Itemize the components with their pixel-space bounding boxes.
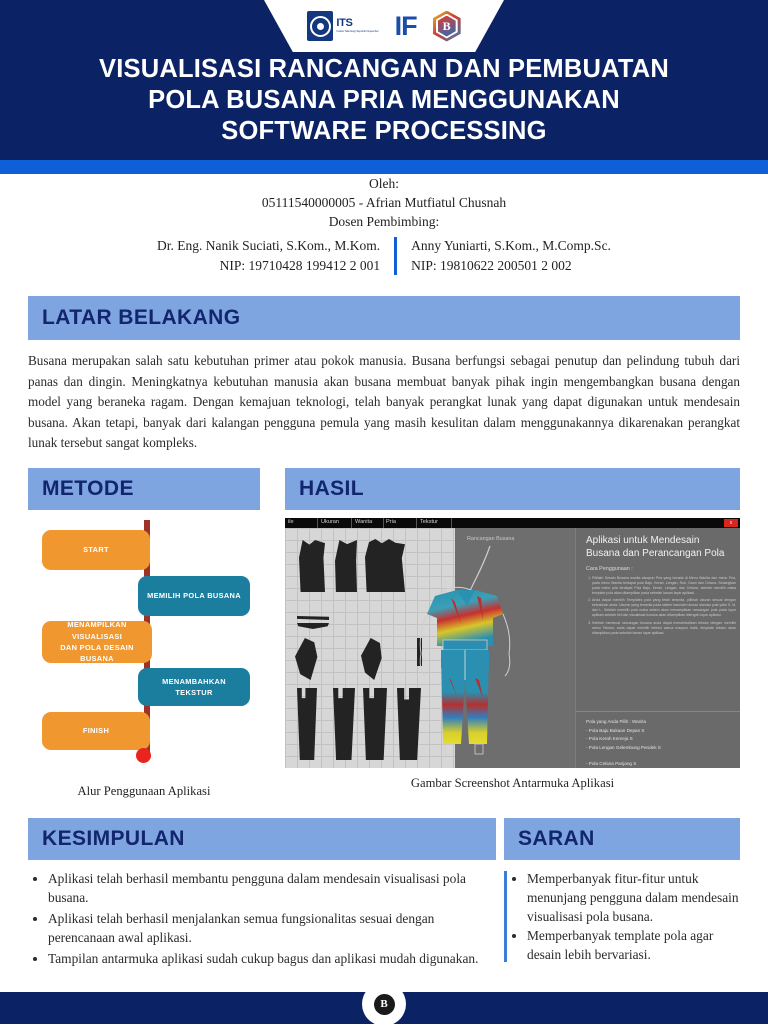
menu-item-file[interactable]: ile xyxy=(288,519,294,525)
app-menubar: ile Ukuran Wanita Pria Tekstur x xyxy=(285,518,740,528)
footer-badge-label: B xyxy=(374,994,395,1015)
saran-list: Memperbanyak fitur-fitur untuk menunjang… xyxy=(507,869,740,964)
panel-step: Pilihlah Desain Busana wanita ataupun Pr… xyxy=(592,576,736,596)
advisor-left-name: Dr. Eng. Nanik Suciati, S.Kom., M.Kom. xyxy=(157,236,380,256)
close-icon[interactable]: x xyxy=(724,519,738,527)
section-kesimpulan: KESIMPULAN Aplikasi telah berhasil memba… xyxy=(28,818,496,970)
selection-item: - Pola Celana Panjang S xyxy=(586,760,736,768)
poster-footer: B xyxy=(0,992,768,1024)
flow-node-start: START xyxy=(42,530,150,570)
section-saran: SARAN Memperbanyak fitur-fitur untuk men… xyxy=(504,818,740,964)
flowchart: START MEMILIH POLA BUSANA MENAMPILKAN VI… xyxy=(28,516,260,776)
kesimpulan-banner: KESIMPULAN xyxy=(28,818,496,860)
hasil-title: HASIL xyxy=(285,477,364,501)
advisor-right-nip: NIP: 19810622 200501 2 002 xyxy=(411,256,611,276)
flow-node-menampilkan-visualisasi: MENAMPILKAN VISUALISASI DAN POLA DESAIN … xyxy=(42,621,152,663)
its-seal-icon xyxy=(307,11,333,41)
flow-node-finish: FINISH xyxy=(42,712,150,750)
student-name: 05111540000005 - Afrian Mutfiatul Chusna… xyxy=(0,193,768,212)
selection-item: - Pola Baju Bukaan Depan S xyxy=(586,727,736,736)
its-logo-icon: ITS Institut Teknologi Sepuluh Nopember xyxy=(307,11,378,41)
kesimpulan-list: Aplikasi telah berhasil membantu penggun… xyxy=(28,869,496,968)
advisor-right: Anny Yuniarti, S.Kom., M.Comp.Sc. NIP: 1… xyxy=(397,236,625,275)
selection-item: - Pola Kerah Kemeja S xyxy=(586,735,736,744)
flow-end-dot xyxy=(136,748,151,763)
saran-title: SARAN xyxy=(504,827,595,851)
header-accent-stripe xyxy=(0,160,768,174)
panel-steps: Pilihlah Desain Busana wanita ataupun Pr… xyxy=(586,576,736,638)
panel-title: Aplikasi untuk Mendesain Busana dan Pera… xyxy=(586,534,734,560)
latar-body: Busana merupakan salah satu kebutuhan pr… xyxy=(28,351,740,454)
menu-item-tekstur[interactable]: Tekstur xyxy=(420,519,438,525)
flow-node-menambahkan-tekstur: MENAMBAHKAN TEKSTUR xyxy=(138,668,250,706)
hex-badge-icon: B xyxy=(433,11,461,42)
metode-banner: METODE xyxy=(28,468,260,510)
footer-badge: B xyxy=(362,982,406,1026)
menu-item-ukuran[interactable]: Ukuran xyxy=(321,519,339,525)
advisor-right-name: Anny Yuniarti, S.Kom., M.Comp.Sc. xyxy=(411,236,611,256)
mannequin-figure xyxy=(285,528,575,768)
poster-header: ITS Institut Teknologi Sepuluh Nopember … xyxy=(0,0,768,160)
advisors-row: Dr. Eng. Nanik Suciati, S.Kom., M.Kom. N… xyxy=(0,236,768,275)
hasil-caption: Gambar Screenshot Antarmuka Aplikasi xyxy=(285,776,740,791)
author-block: Oleh: 05111540000005 - Afrian Mutfiatul … xyxy=(0,174,768,276)
latar-banner: LATAR BELAKANG xyxy=(28,296,740,340)
its-abbr-label: ITS xyxy=(336,18,378,29)
metode-title: METODE xyxy=(28,477,134,501)
its-sub-label: Institut Teknologi Sepuluh Nopember xyxy=(336,30,378,34)
latar-title: LATAR BELAKANG xyxy=(28,306,240,330)
section-metode: METODE START MEMILIH POLA BUSANA MENAMPI… xyxy=(28,468,260,799)
app-info-panel: Aplikasi untuk Mendesain Busana dan Pera… xyxy=(575,528,740,768)
by-label: Oleh: xyxy=(0,174,768,193)
metode-caption: Alur Penggunaan Aplikasi xyxy=(28,784,260,799)
kesimpulan-title: KESIMPULAN xyxy=(28,827,185,851)
poster: ITS Institut Teknologi Sepuluh Nopember … xyxy=(0,0,768,1024)
panel-selection: Pola yang Anda Pilih : Wanita - Pola Baj… xyxy=(586,718,736,768)
title-line-3: SOFTWARE PROCESSING xyxy=(0,116,768,147)
menu-item-pria[interactable]: Pria xyxy=(386,519,396,525)
section-hasil: HASIL ile Ukuran Wanita Pria Tekstur x xyxy=(285,468,740,791)
advisor-label: Dosen Pembimbing: xyxy=(0,212,768,231)
logo-plate: ITS Institut Teknologi Sepuluh Nopember … xyxy=(264,0,504,52)
panel-step: Anda dapat memilih Templates pola yang t… xyxy=(592,598,736,618)
app-screenshot: ile Ukuran Wanita Pria Tekstur x xyxy=(285,518,740,768)
title-line-2: POLA BUSANA PRIA MENGGUNAKAN xyxy=(0,85,768,116)
hex-badge-label: B xyxy=(443,19,451,34)
if-logo-icon: IF xyxy=(395,11,417,42)
list-item: Aplikasi telah berhasil menjalankan semu… xyxy=(48,909,496,947)
list-item: Tampilan antarmuka aplikasi sudah cukup … xyxy=(48,949,496,968)
list-item: Memperbanyak fitur-fitur untuk menunjang… xyxy=(527,869,740,926)
page-title: VISUALISASI RANCANGAN DAN PEMBUATAN POLA… xyxy=(0,54,768,147)
panel-subtitle: Cara Penggunaan : xyxy=(586,566,633,572)
title-line-1: VISUALISASI RANCANGAN DAN PEMBUATAN xyxy=(0,54,768,85)
advisor-left: Dr. Eng. Nanik Suciati, S.Kom., M.Kom. N… xyxy=(143,236,394,275)
section-latar-belakang: LATAR BELAKANG Busana merupakan salah sa… xyxy=(28,296,740,454)
list-item: Memperbanyak template pola agar desain l… xyxy=(527,926,740,964)
panel-divider xyxy=(576,711,740,712)
selection-title: Pola yang Anda Pilih : Wanita xyxy=(586,718,736,727)
panel-step: Setelah membuat rancangan busana anda da… xyxy=(592,621,736,636)
menu-item-wanita[interactable]: Wanita xyxy=(355,519,372,525)
selection-item: - Pola Lengan Gelembung Pendek S xyxy=(586,744,736,753)
flow-node-memilih-pola: MEMILIH POLA BUSANA xyxy=(138,576,250,616)
list-item: Aplikasi telah berhasil membantu penggun… xyxy=(48,869,496,907)
advisor-left-nip: NIP: 19710428 199412 2 001 xyxy=(157,256,380,276)
hasil-banner: HASIL xyxy=(285,468,740,510)
saran-banner: SARAN xyxy=(504,818,740,860)
